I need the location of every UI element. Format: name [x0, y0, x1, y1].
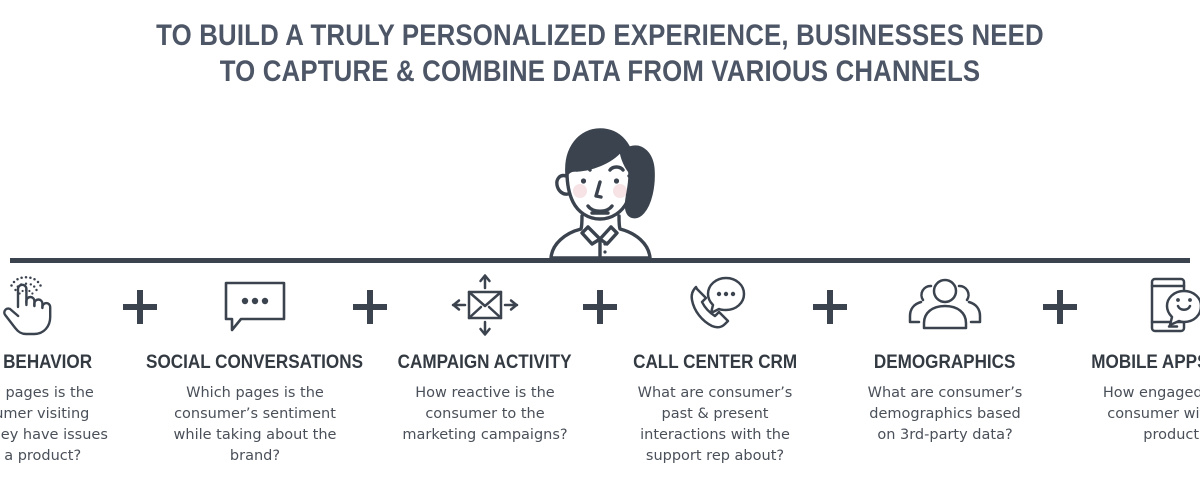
- channel-description: What are consumer’s demographics based o…: [859, 383, 1031, 446]
- channel-title: DEMOGRAPHICS: [874, 352, 1016, 374]
- channel-icon-container: [908, 272, 982, 338]
- channel-description: What are consumer’s past & present inter…: [629, 383, 801, 467]
- plus-separator-4: [808, 274, 852, 340]
- plus-icon: [813, 290, 847, 324]
- plus-separator-5: [1038, 274, 1082, 340]
- page-title: TO BUILD A TRULY PERSONALIZED EXPERIENCE…: [0, 0, 1200, 90]
- smartphone-smiley-icon: [1141, 274, 1200, 336]
- channel-description: Which pages is the consumer visiting whe…: [0, 383, 111, 467]
- people-group-icon: [908, 276, 982, 334]
- channel-title: CALL CENTER CRM: [633, 352, 797, 374]
- channel-icon-container: [220, 272, 290, 338]
- channel-title: MOBILE APPS & IOT: [1091, 352, 1200, 374]
- channel-web-behavior: WEB BEHAVIOR Which pages is the consumer…: [0, 272, 118, 467]
- page-title-line-2: TO CAPTURE & COMBINE DATA FROM VARIOUS C…: [84, 54, 1116, 90]
- plus-separator-1: [118, 274, 162, 340]
- channel-icon-container: [0, 272, 56, 338]
- channel-mobile-apps-iot: MOBILE APPS & IOT How engaged is the con…: [1082, 272, 1200, 446]
- section-divider: [10, 258, 1190, 263]
- channel-title: WEB BEHAVIOR: [0, 352, 92, 374]
- speech-bubble-dots-icon: [220, 275, 290, 335]
- page-title-line-1: TO BUILD A TRULY PERSONALIZED EXPERIENCE…: [84, 18, 1116, 54]
- avatar: [0, 112, 1200, 258]
- phone-chat-icon: [682, 274, 748, 336]
- channel-call-center-crm: CALL CENTER CRM What are consumer’s past…: [622, 272, 808, 467]
- channel-title: SOCIAL CONVERSATIONS: [147, 352, 364, 374]
- channel-campaign-activity: CAMPAIGN ACTIVITY How reactive is the co…: [392, 272, 578, 446]
- channel-demographics: DEMOGRAPHICS What are consumer’s demogra…: [852, 272, 1038, 446]
- envelope-arrows-icon: [450, 272, 520, 338]
- person-avatar-icon: [535, 112, 665, 258]
- channels-row: WEB BEHAVIOR Which pages is the consumer…: [0, 272, 1200, 467]
- channel-icon-container: [1141, 272, 1200, 338]
- plus-separator-2: [348, 274, 392, 340]
- channel-description: Which pages is the consumer’s sentiment …: [169, 383, 341, 467]
- channel-title: CAMPAIGN ACTIVITY: [398, 352, 572, 374]
- plus-separator-3: [578, 274, 622, 340]
- channel-description: How engaged is the consumer with the pro…: [1089, 383, 1200, 446]
- plus-icon: [1043, 290, 1077, 324]
- plus-icon: [123, 290, 157, 324]
- channel-icon-container: [450, 272, 520, 338]
- channel-icon-container: [682, 272, 748, 338]
- tap-hand-icon: [0, 273, 56, 337]
- plus-icon: [583, 290, 617, 324]
- channel-social-conversations: SOCIAL CONVERSATIONS Which pages is the …: [162, 272, 348, 467]
- plus-icon: [353, 290, 387, 324]
- channel-description: How reactive is the consumer to the mark…: [399, 383, 571, 446]
